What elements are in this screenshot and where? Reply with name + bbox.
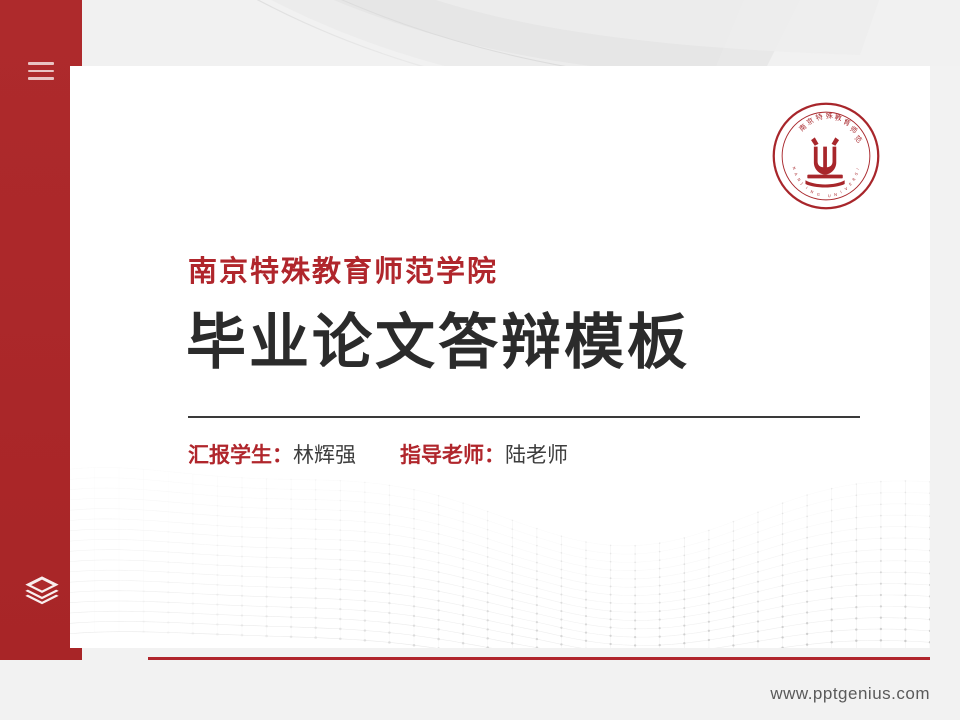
institution-name: 南京特殊教育师范学院 [188, 248, 498, 290]
presenter-advisor-row: 汇报学生：林辉强指导老师：陆老师 [188, 439, 568, 469]
hamburger-line [28, 70, 54, 73]
hamburger-menu-icon[interactable] [28, 62, 54, 82]
university-emblem-icon: 南 京 特 殊 教 育 师 范 N A N J I N G U N I [770, 100, 882, 212]
advisor-label: 指导老师： [400, 443, 505, 467]
presenter-name: 林辉强 [293, 443, 356, 467]
presentation-slide: 南 京 特 殊 教 育 师 范 N A N J I N G U N I [0, 0, 960, 720]
slide-background-strip [82, 0, 960, 66]
footer-url: www.pptgenius.com [770, 684, 930, 704]
dotted-mesh-wave [70, 438, 930, 648]
layers-stack-icon[interactable] [22, 568, 62, 608]
hamburger-line [28, 62, 54, 65]
slide-content-card: 南 京 特 殊 教 育 师 范 N A N J I N G U N I [70, 66, 930, 648]
advisor-name: 陆老师 [505, 443, 568, 467]
title-divider [188, 416, 860, 418]
svg-text:U: U [828, 194, 831, 198]
page-title: 毕业论文答辩模板 [186, 294, 690, 381]
svg-text:教: 教 [834, 113, 842, 123]
hamburger-line [28, 77, 54, 80]
svg-text:殊: 殊 [825, 111, 833, 121]
bottom-accent-rule [148, 657, 930, 660]
presenter-label: 汇报学生： [188, 443, 293, 467]
